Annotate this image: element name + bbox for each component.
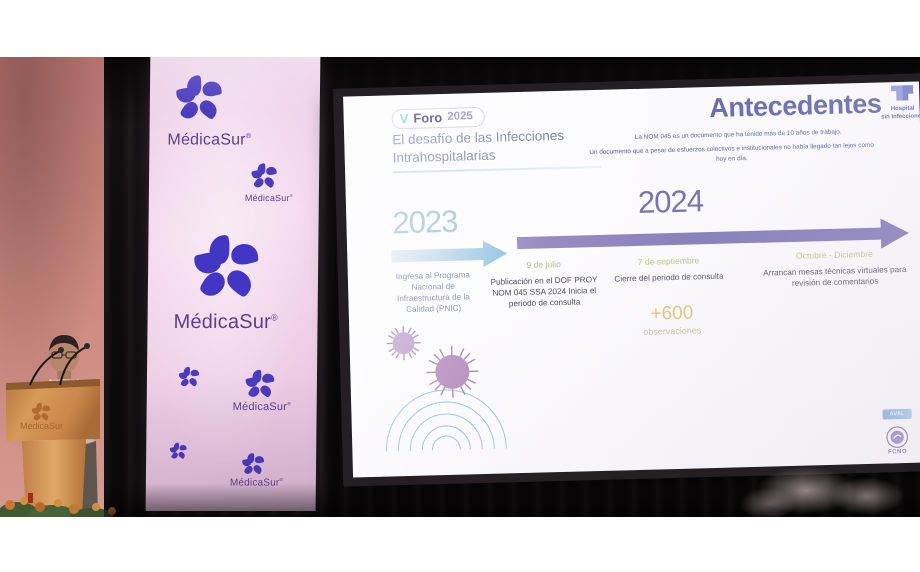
milestone-1-body: Ingresa al Programa Nacional de Infraest…	[386, 269, 481, 316]
timeline-year-2023: 2023	[392, 204, 458, 242]
rm4: ®	[279, 477, 283, 482]
medicasur-wordmark-small-1-text: MédicaSur	[245, 193, 290, 203]
medicasur-wordmark-small-2-text: MédicaSur	[233, 401, 288, 413]
conference-photo: MédicaSur® MédicaSur®	[0, 57, 920, 517]
certification-seal-label: FCNO	[881, 449, 915, 456]
screenshot-root: MédicaSur® MédicaSur®	[0, 0, 920, 572]
milestone-4-body: Arrancan mesas técnicas virtuales para r…	[760, 264, 911, 290]
medicasur-wordmark-small-1: MédicaSur®	[245, 193, 293, 203]
medicasur-flower-icon	[172, 71, 227, 130]
milestone-2-body: Publicación en el DOF PROY NOM 045 SSA 2…	[488, 274, 601, 310]
hospital-sin-infecciones-logo: Hospital sin Infecciones	[879, 83, 920, 121]
foro-badge-year: 2025	[447, 111, 473, 123]
medicasur-flower-icon-small-1	[249, 161, 279, 196]
observations-count: +600	[617, 303, 727, 325]
timeline-milestone-3: 7 de septiembre Cierre del periodo de co…	[613, 255, 724, 285]
observations-label: observaciones	[617, 325, 727, 338]
lead-paragraph-1: La NOM 045 es un documento que ha tenido…	[608, 127, 868, 143]
medicasur-wordmark-hero-text: MédicaSur	[173, 311, 271, 333]
rm3: ®	[287, 402, 291, 407]
timeline-year-2024: 2024	[638, 183, 704, 221]
medicasur-wordmark-text: MédicaSur	[167, 131, 245, 148]
microphone-right	[56, 341, 100, 392]
observations-highlight: +600 observaciones	[617, 303, 728, 338]
podium-brand-text: MédicaSur	[20, 421, 63, 431]
medicasur-wordmark-hero: MédicaSur®	[173, 311, 277, 334]
milestone-3-date: 7 de septiembre	[613, 255, 723, 268]
projection-screen: V Foro 2025 El desafío de las Infeccione…	[343, 82, 920, 478]
rm1: ®	[290, 193, 293, 198]
medicasur-flower-icon-small-4	[168, 441, 188, 466]
aval-badge: AVAL	[883, 409, 912, 420]
foro-badge-label: Foro	[413, 111, 442, 125]
rm2: ®	[271, 312, 278, 322]
milestone-3-body: Cierre del periodo de consulta	[614, 271, 724, 285]
medicasur-wordmark: MédicaSur®	[167, 131, 251, 149]
foro-badge: V Foro 2025	[391, 107, 485, 129]
milestone-2-date: 9 de julio	[487, 258, 599, 271]
certification-seal: FCNO	[880, 425, 915, 456]
slide-title: Antecedentes	[709, 89, 882, 124]
foro-v-icon: V	[400, 112, 409, 125]
medicasur-banner: MédicaSur® MédicaSur®	[146, 57, 321, 511]
stage-floor-shadow	[104, 483, 920, 517]
virus-decoration	[373, 318, 536, 452]
medicasur-wordmark-small-2: MédicaSur®	[233, 401, 291, 413]
medicasur-registered-mark: ®	[246, 131, 252, 140]
medicasur-flower-icon-hero	[188, 229, 265, 310]
hsi-line-2: sin Infecciones	[880, 113, 920, 122]
timeline-milestone-2: 9 de julio Publicación en el DOF PROY NO…	[487, 258, 600, 310]
timeline-milestone-4: Octubre - Diciembre Arrancan mesas técni…	[759, 248, 910, 290]
timeline-milestone-1: Ingresa al Programa Nacional de Infraest…	[386, 263, 481, 316]
medicasur-flower-icon-small-2	[177, 365, 201, 394]
